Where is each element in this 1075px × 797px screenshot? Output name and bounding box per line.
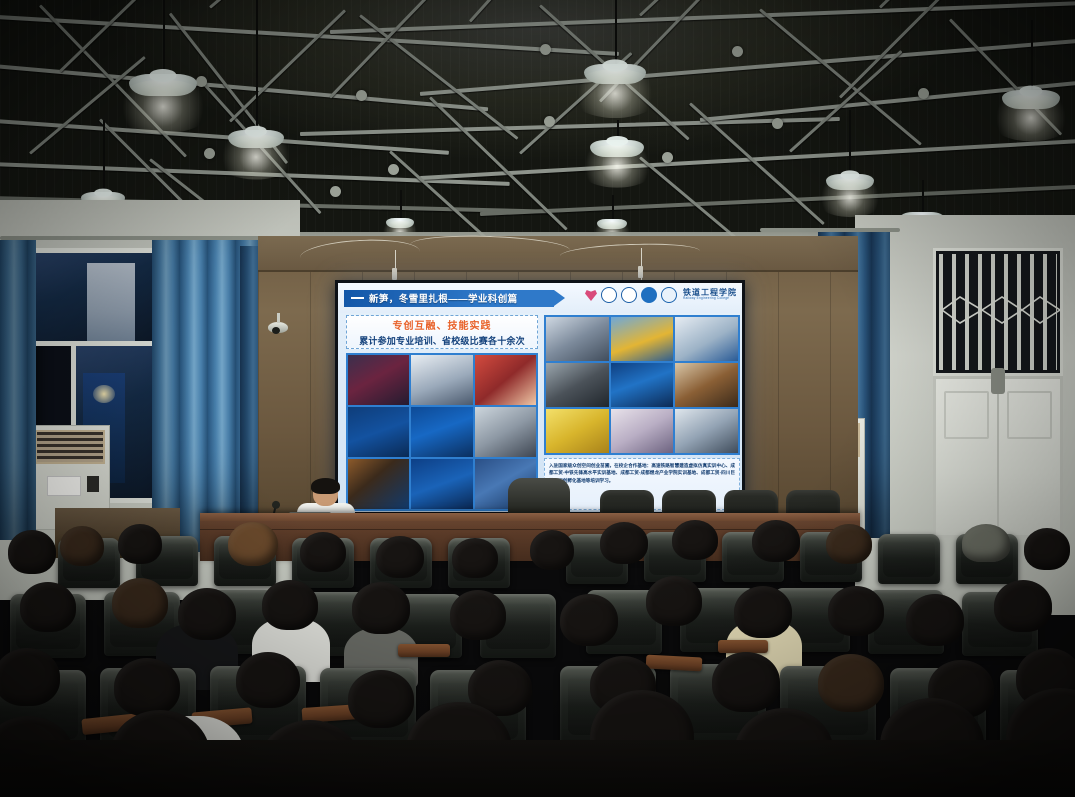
audience-head <box>236 652 300 708</box>
audience-head <box>376 536 424 578</box>
audience-head <box>600 522 648 564</box>
college-logo-text: 铁道工程学院 Railway Engineering College <box>683 289 737 300</box>
audience-head <box>828 586 884 636</box>
photo-cell <box>348 407 409 457</box>
audience-head <box>994 580 1052 632</box>
photo-cell <box>475 407 536 457</box>
ac-label-sticker <box>47 476 81 496</box>
audience-head <box>300 532 346 572</box>
photo-cell <box>546 363 609 407</box>
audience-head <box>228 522 278 566</box>
audience-head <box>734 586 792 638</box>
audience-head <box>114 658 180 716</box>
ceiling-lamp <box>590 140 644 169</box>
heart-icon <box>585 289 597 301</box>
audience-head <box>818 654 884 712</box>
ceiling-lamp <box>129 74 197 110</box>
auditorium-scene: 新笋，冬雪里扎根——学业科创篇 铁道工程学院 Railway Engineeri… <box>0 0 1075 797</box>
audience-head <box>450 590 506 640</box>
slide-title-chevron: 新笋，冬雪里扎根——学业科创篇 <box>344 290 554 307</box>
ceiling-lamp <box>826 174 874 200</box>
seat-armrest <box>718 640 768 653</box>
college-name-en: Railway Engineering College <box>683 297 737 300</box>
audience-head <box>348 670 414 728</box>
ceiling-lamp <box>228 130 284 160</box>
audience-head <box>178 588 236 640</box>
title-dash-icon <box>351 297 364 299</box>
slide-header: 新笋，冬雪里扎根——学业科创篇 铁道工程学院 Railway Engineeri… <box>338 283 742 313</box>
barred-transom-window <box>933 248 1063 376</box>
photo-cell <box>675 363 738 407</box>
window-reflection-poster <box>87 263 135 345</box>
photo-cell <box>411 407 472 457</box>
photo-grid-right <box>544 315 740 455</box>
audience-head <box>906 594 964 646</box>
photo-cell <box>546 409 609 453</box>
slide-title: 新笋，冬雪里扎根——学业科创篇 <box>369 291 518 305</box>
auditorium-seat[interactable] <box>878 534 940 584</box>
audience-head-with-cap <box>962 524 1010 562</box>
dome-camera-icon <box>268 322 290 335</box>
curtain-left-outer <box>0 240 36 540</box>
photo-cell <box>611 409 674 453</box>
diamond-grille-pattern <box>942 293 1060 327</box>
photo-cell <box>675 409 738 453</box>
audience-head <box>262 580 318 630</box>
photo-cell <box>675 317 738 361</box>
audience-head <box>8 530 56 574</box>
photo-cell <box>611 317 674 361</box>
lamp-wire <box>163 0 165 74</box>
shield-badge-icon <box>661 287 677 303</box>
screen-hanging-clip <box>638 266 643 278</box>
audience-head <box>118 524 162 564</box>
audience-head <box>60 526 104 566</box>
screen-hanging-clip <box>392 268 397 280</box>
slide-headline-sub: 累计参加专业培训、省校级比赛各十余次 <box>359 334 525 347</box>
slide-paragraph: 入驻国家级众创空间创业苗圃，在校企合作基地：高速铁路智慧建造虚拟仿真实训中心、成… <box>549 462 735 484</box>
audience-head <box>560 594 618 646</box>
seat-armrest <box>646 655 703 672</box>
circle-badge-icon <box>641 287 657 303</box>
ceiling-lamp <box>1002 90 1060 121</box>
ac-vent <box>35 430 105 464</box>
photo-cell <box>411 355 472 405</box>
audience-head <box>646 576 702 626</box>
ac-control-panel[interactable] <box>87 476 99 492</box>
circle-badge-icon <box>601 287 617 303</box>
audience-head <box>352 582 410 634</box>
double-door[interactable] <box>933 248 1063 538</box>
photo-cell <box>411 459 472 509</box>
seat-armrest <box>398 644 450 657</box>
slide-headline-main: 专创互融、技能实践 <box>393 317 492 332</box>
audience-head <box>1024 528 1070 570</box>
door-handle[interactable] <box>991 368 1005 394</box>
circle-badge-icon <box>621 287 637 303</box>
audience-head <box>112 578 168 628</box>
foreground-shadow <box>0 740 1075 797</box>
audience-head <box>672 520 718 560</box>
door-panels[interactable] <box>933 376 1063 538</box>
ceiling-lamp <box>584 64 646 97</box>
photo-cell <box>611 363 674 407</box>
audience-head <box>712 652 780 712</box>
audience-head <box>530 530 574 570</box>
photo-cell <box>475 355 536 405</box>
audience-head <box>752 520 800 562</box>
slide-headline-box: 专创互融、技能实践 累计参加专业培训、省校级比赛各十余次 <box>346 315 538 349</box>
photo-cell <box>348 355 409 405</box>
photo-cell <box>546 317 609 361</box>
audience-head <box>0 648 60 706</box>
window-lamp-reflection <box>93 385 115 403</box>
audience-head <box>20 582 76 632</box>
audience-head <box>452 538 498 578</box>
audience-head <box>826 524 872 564</box>
logo-row: 铁道工程学院 Railway Engineering College <box>585 287 737 303</box>
photo-cell <box>348 459 409 509</box>
